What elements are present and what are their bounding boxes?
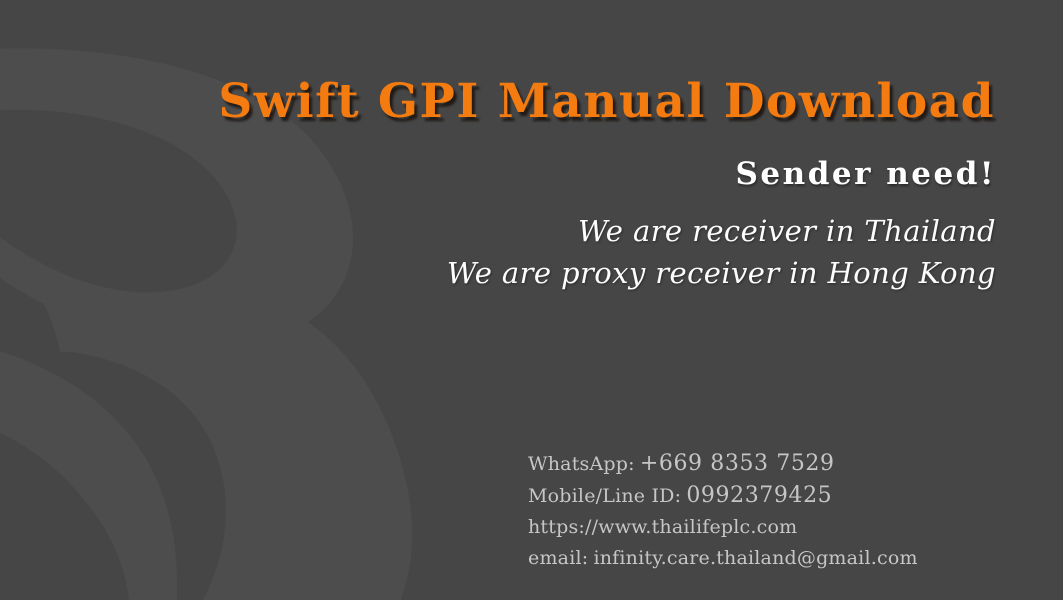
subtitle-sender-need: Sender need! <box>736 157 996 191</box>
page-title-row: Swift GPI Manual Download <box>0 78 995 125</box>
contact-line-website: https://www.thailifeplc.com <box>528 512 918 543</box>
statement-line-proxy-hong-kong: We are proxy receiver in Hong Kong <box>0 252 996 294</box>
statement-block: We are receiver in Thailand We are proxy… <box>0 210 996 294</box>
subtitle-row: Sender need! <box>0 157 996 191</box>
whatsapp-label: WhatsApp: <box>528 453 635 475</box>
page-title: Swift GPI Manual Download <box>218 78 995 125</box>
mobile-line-id-number[interactable]: 0992379425 <box>686 483 832 508</box>
contact-line-whatsapp: WhatsApp: +669 8353 7529 <box>528 448 918 480</box>
contact-line-mobile-line-id: Mobile/Line ID: 0992379425 <box>528 480 918 512</box>
slide-canvas: Swift GPI Manual Download Sender need! W… <box>0 0 1063 600</box>
website-link[interactable]: https://www.thailifeplc.com <box>528 516 797 538</box>
statement-line-receiver-thailand: We are receiver in Thailand <box>0 210 996 252</box>
email-address[interactable]: infinity.care.thailand@gmail.com <box>593 547 917 569</box>
mobile-line-id-label: Mobile/Line ID: <box>528 485 681 507</box>
email-label: email: <box>528 547 588 569</box>
whatsapp-number[interactable]: +669 8353 7529 <box>640 451 835 476</box>
contact-block: WhatsApp: +669 8353 7529 Mobile/Line ID:… <box>528 448 918 574</box>
contact-line-email: email: infinity.care.thailand@gmail.com <box>528 543 918 574</box>
